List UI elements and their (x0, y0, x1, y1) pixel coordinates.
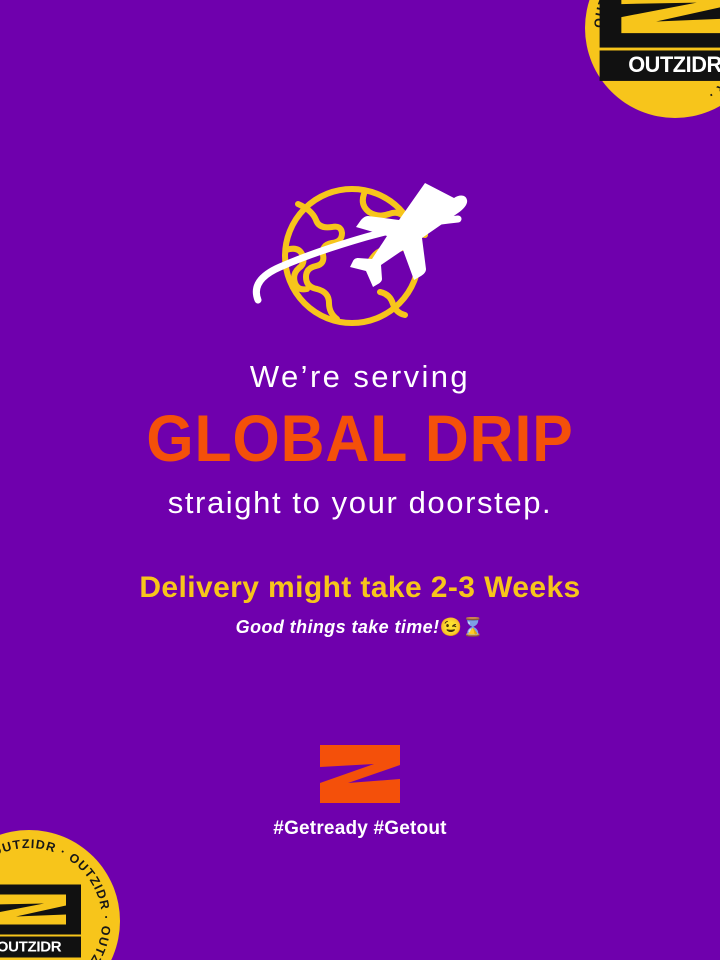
brand-stamp-wordmark: OUTZIDR (0, 937, 81, 958)
headline-block: We’re serving GLOBAL DRIP straight to yo… (0, 360, 720, 637)
z-brand-mark-icon (318, 743, 402, 805)
brand-stamp-bottom-left: OUTZIDR · OUTZIDR · OUTZIDR · OUTZIDR · … (0, 830, 120, 960)
globe-plane-icon (240, 172, 480, 344)
wink-emoji-icon: 😉 (439, 617, 461, 637)
brand-stamp-top-right: OUTZIDR · OUTZIDR · OUTZIDR · OUTZIDR · … (585, 0, 720, 118)
globe-plane-illustration (0, 172, 720, 344)
delivery-notice: Delivery might take 2-3 Weeks (0, 571, 720, 604)
z-logo-icon (618, 0, 720, 36)
z-logo-icon (0, 893, 68, 927)
brand-stamp-core: OUTZIDR (600, 0, 720, 81)
subtitle-text: straight to your doorstep. (0, 486, 720, 520)
hourglass-emoji-icon: ⌛ (462, 617, 484, 637)
brand-stamp-z-block (600, 0, 720, 48)
eyebrow-text: We’re serving (0, 360, 720, 394)
brand-stamp-wordmark: OUTZIDR (600, 50, 720, 80)
brand-stamp-z-block (0, 885, 81, 935)
brand-stamp-core: OUTZIDR (0, 885, 81, 958)
reassurance-text: Good things take time! (236, 617, 440, 637)
promo-poster: OUTZIDR · OUTZIDR · OUTZIDR · OUTZIDR · … (0, 0, 720, 960)
footer-lockup: #Getready #Getout (0, 743, 720, 838)
hashtag-text: #Getready #Getout (273, 819, 446, 838)
reassurance-line: Good things take time!😉⌛ (0, 618, 720, 638)
page-title: GLOBAL DRIP (29, 405, 691, 472)
